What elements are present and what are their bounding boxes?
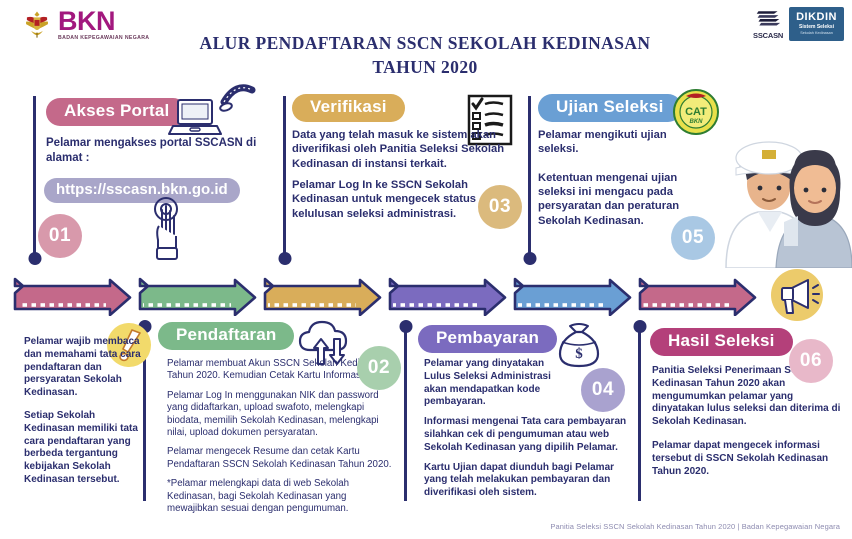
dikdin-wordmark: DIKDIN bbox=[796, 12, 837, 23]
page-title: ALUR PENDAFTARAN SSCN SEKOLAH KEDINASAN … bbox=[140, 32, 710, 79]
pendaftaran-para-2: Pelamar Log In menggunakan NIK dan passw… bbox=[167, 390, 397, 440]
notice-body: Pelamar wajib membaca dan memahami tata … bbox=[24, 336, 142, 487]
pin-step-06 bbox=[638, 326, 641, 501]
pin-step-03 bbox=[283, 96, 286, 259]
pin-step-05 bbox=[528, 96, 531, 259]
ujian-seleksi-para-1: Pelamar mengikuti ujian seleksi. bbox=[538, 128, 710, 157]
bkn-subtitle: BADAN KEPEGAWAIAN NEGARA bbox=[58, 36, 149, 41]
pin-step-04 bbox=[404, 326, 407, 501]
notice-para-1: Pelamar wajib membaca dan memahami tata … bbox=[24, 336, 142, 400]
hasil-seleksi-para-2: Pelamar dapat mengecek informasi tersebu… bbox=[652, 440, 848, 478]
verifikasi-para-1: Data yang telah masuk ke sistem akan div… bbox=[292, 128, 522, 171]
pembayaran-para-3: Kartu Ujian dapat diunduh bagi Pelamar y… bbox=[424, 462, 634, 500]
partner-logos: SSCASN DIKDIN Sistem Seleksi Sekolah Ked… bbox=[753, 7, 844, 41]
badge-step-05: 05 bbox=[671, 216, 715, 260]
pill-akses-portal: Akses Portal bbox=[46, 98, 187, 126]
pendaftaran-para-4: *Pelamar melengkapi data di web Sekolah … bbox=[167, 478, 397, 515]
page-title-line-2: TAHUN 2020 bbox=[140, 56, 710, 80]
badge-step-01: 01 bbox=[38, 214, 82, 258]
pendaftaran-para-3: Pelamar mengecek Resume dan cetak Kartu … bbox=[167, 446, 397, 471]
garuda-icon bbox=[20, 9, 54, 41]
arrow-6 bbox=[640, 279, 755, 315]
process-arrow-band bbox=[12, 272, 822, 316]
badge-step-03: 03 bbox=[478, 185, 522, 229]
pill-verifikasi: Verifikasi bbox=[292, 94, 405, 122]
bkn-logo: BKN BADAN KEPEGAWAIAN NEGARA bbox=[20, 8, 149, 41]
sscasn-logo: SSCASN bbox=[753, 8, 783, 40]
akses-portal-intro: Pelamar mengakses portal SSCASN di alama… bbox=[46, 136, 261, 165]
arrow-5 bbox=[515, 279, 630, 315]
pill-pembayaran: Pembayaran bbox=[418, 325, 557, 353]
arrow-3 bbox=[265, 279, 380, 315]
badge-step-04: 04 bbox=[581, 368, 625, 412]
cadets-illustration bbox=[718, 96, 852, 268]
arrow-1 bbox=[15, 279, 130, 316]
sscasn-url-chip[interactable]: https://sscasn.bkn.go.id bbox=[44, 178, 240, 203]
sscasn-wordmark: SSCASN bbox=[753, 31, 783, 40]
dikdin-tagline-2: Sekolah Kedinasan bbox=[796, 31, 837, 35]
pembayaran-para-2: Informasi mengenai Tata cara pembayaran … bbox=[424, 416, 634, 454]
page-title-line-1: ALUR PENDAFTARAN SSCN SEKOLAH KEDINASAN bbox=[140, 32, 710, 56]
pill-hasil-seleksi: Hasil Seleksi bbox=[650, 328, 793, 356]
pin-step-01 bbox=[33, 96, 36, 259]
svg-text:BKN: BKN bbox=[690, 119, 704, 125]
pill-pendaftaran: Pendaftaran bbox=[158, 322, 294, 350]
badge-step-06: 06 bbox=[789, 339, 833, 383]
notice-para-2: Setiap Sekolah Kedinasan memiliki tata c… bbox=[24, 410, 142, 487]
bkn-wordmark: BKN bbox=[58, 8, 149, 35]
dikdin-tagline-1: Sistem Seleksi bbox=[796, 25, 837, 31]
hasil-seleksi-body: Panitia Seleksi Penerimaan Sekolah Kedin… bbox=[652, 365, 848, 478]
arrow-4 bbox=[390, 279, 505, 315]
arrow-2 bbox=[140, 279, 255, 315]
pembayaran-para-1: Pelamar yang dinyatakan Lulus Seleksi Ad… bbox=[424, 358, 569, 409]
hand-click-icon bbox=[148, 196, 184, 262]
megaphone-icon bbox=[770, 268, 824, 322]
footer-credit: Panitia Seleksi SSCN Sekolah Kedinasan T… bbox=[550, 522, 840, 531]
pill-ujian-seleksi: Ujian Seleksi bbox=[538, 94, 682, 122]
ujian-seleksi-body: Pelamar mengikuti ujian seleksi. Ketentu… bbox=[538, 128, 710, 228]
infographic-canvas: BKN BADAN KEPEGAWAIAN NEGARA SSCASN DIKD… bbox=[0, 0, 852, 539]
svg-text:CAT: CAT bbox=[685, 106, 707, 118]
sscasn-mark-icon bbox=[755, 8, 781, 30]
wifi-signal-icon bbox=[218, 80, 258, 112]
dikdin-logo: DIKDIN Sistem Seleksi Sekolah Kedinasan bbox=[789, 7, 844, 41]
badge-step-02: 02 bbox=[357, 346, 401, 390]
